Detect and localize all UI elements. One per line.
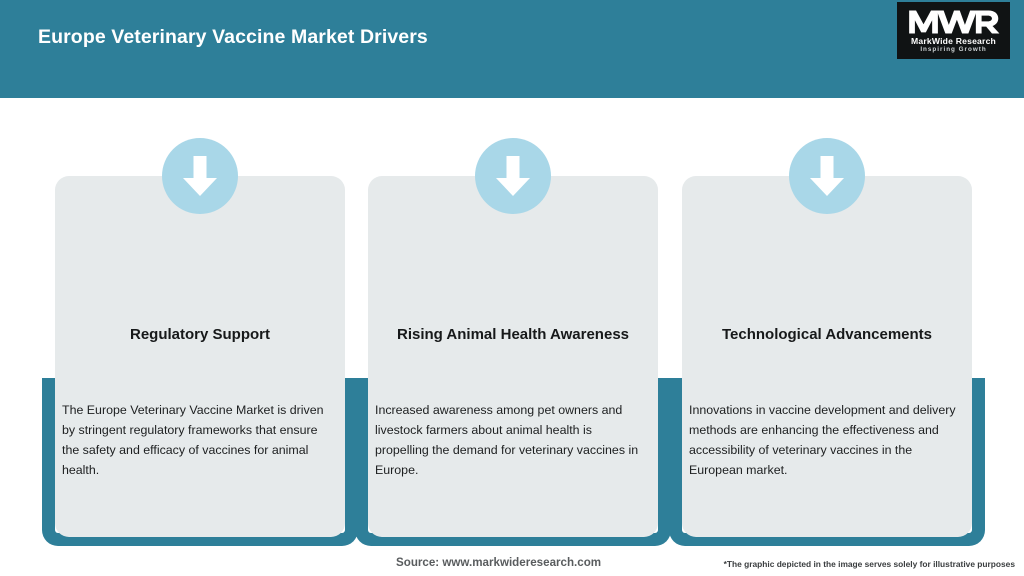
logo-tagline: Inspiring Growth [920,46,986,54]
disclaimer-label: *The graphic depicted in the image serve… [724,559,1015,569]
mwr-logo-icon [908,9,1000,35]
arrow-down-icon [494,154,532,198]
driver-card-1: Regulatory Support The Europe Veterinary… [55,98,345,576]
card-body-text: Increased awareness among pet owners and… [375,400,647,480]
brand-logo: MarkWide Research Inspiring Growth [897,2,1010,59]
card-body-text: Innovations in vaccine development and d… [689,400,961,480]
card-panel: Technological Advancements Innovations i… [682,176,972,537]
arrow-down-icon [808,154,846,198]
page-header: Europe Veterinary Vaccine Market Drivers… [0,0,1024,98]
logo-company-name: MarkWide Research [911,36,996,46]
card-icon-badge [162,138,238,214]
driver-card-3: Technological Advancements Innovations i… [682,98,972,576]
driver-card-2: Rising Animal Health Awareness Increased… [368,98,658,576]
card-body-text: The Europe Veterinary Vaccine Market is … [62,400,334,480]
page-title: Europe Veterinary Vaccine Market Drivers [38,26,428,49]
card-title: Rising Animal Health Awareness [386,324,640,346]
card-panel: Rising Animal Health Awareness Increased… [368,176,658,537]
drivers-card-row: Regulatory Support The Europe Veterinary… [0,98,1024,576]
arrow-down-icon [181,154,219,198]
card-panel: Regulatory Support The Europe Veterinary… [55,176,345,537]
source-label: Source: www.markwideresearch.com [396,556,601,569]
card-icon-badge [475,138,551,214]
card-title: Regulatory Support [73,324,327,346]
card-title: Technological Advancements [700,324,954,346]
card-icon-badge [789,138,865,214]
